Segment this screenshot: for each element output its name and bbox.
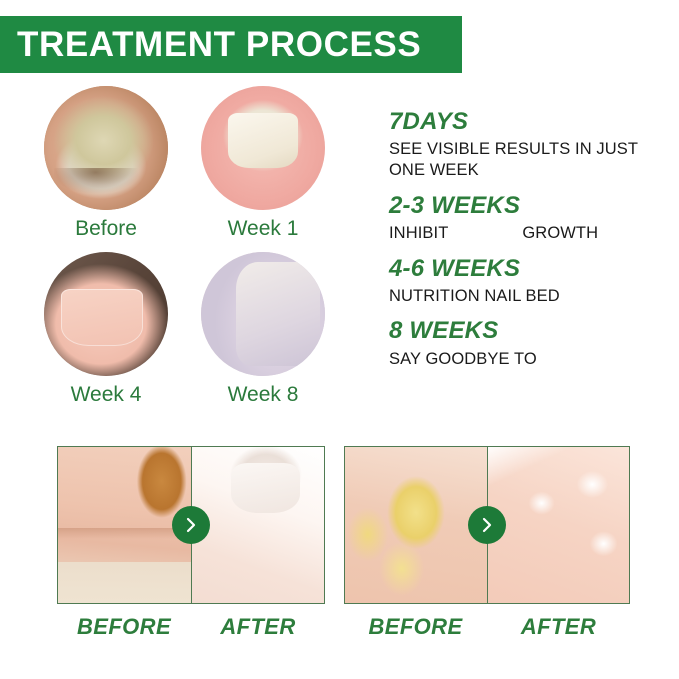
chevron-right-icon [172,506,210,544]
progress-circles-grid: Before Week 1 Week 4 Week 8 [44,86,364,426]
timeline-item-2-3-weeks: 2-3 WEEKS INHIBITGROWTH [389,192,665,244]
timeline-body-line: ONE WEEK [389,161,479,179]
nail-week8-photo [201,252,325,376]
page-title: TREATMENT PROCESS [0,27,421,62]
timeline-item-4-6-weeks: 4-6 WEEKS NUTRITION NAIL BED [389,255,665,307]
toenail-after-art [192,447,325,603]
before-caption: BEFORE [57,614,191,640]
comparison-row: BEFORE AFTER BEFORE AFTER [0,446,679,646]
timeline-body: SAY GOODBYE TO [389,349,665,370]
timeline-body: INHIBITGROWTH [389,223,665,244]
timeline-body: SEE VISIBLE RESULTS IN JUST ONE WEEK [389,139,665,180]
progress-circle-week8: Week 8 [201,252,325,406]
before-image-fingernail [345,447,488,603]
timeline-body: NUTRITION NAIL BED [389,286,665,307]
nail-photo-art [44,252,168,376]
nail-photo-art [44,86,168,210]
nail-photo-art [201,252,325,376]
nail-week4-photo [44,252,168,376]
progress-circle-label: Week 1 [201,217,325,240]
nail-week1-photo [201,86,325,210]
toenail-comparison-panel: BEFORE AFTER [57,446,325,640]
after-image-fingernail [488,447,630,603]
treatment-timeline: 7DAYS SEE VISIBLE RESULTS IN JUST ONE WE… [389,108,665,380]
progress-circle-before: Before [44,86,168,240]
timeline-heading: 8 WEEKS [389,317,665,345]
timeline-heading: 4-6 WEEKS [389,255,665,283]
progress-circle-label: Week 4 [44,383,168,406]
fingernail-before-art [345,447,487,603]
timeline-body-part: INHIBIT [389,224,448,242]
chevron-right-icon [468,506,506,544]
comparison-captions: BEFORE AFTER [57,614,325,640]
before-caption: BEFORE [344,614,487,640]
progress-circle-week1: Week 1 [201,86,325,240]
nail-before-photo [44,86,168,210]
progress-circle-week4: Week 4 [44,252,168,406]
header-banner: TREATMENT PROCESS [0,16,462,73]
timeline-item-7days: 7DAYS SEE VISIBLE RESULTS IN JUST ONE WE… [389,108,665,181]
toenail-before-art [58,447,191,603]
timeline-body-part: GROWTH [522,224,598,242]
after-caption: AFTER [487,614,630,640]
comparison-images [344,446,630,604]
nail-photo-art [201,86,325,210]
timeline-body-line: SEE VISIBLE RESULTS IN JUST [389,140,638,158]
comparison-images [57,446,325,604]
progress-circle-label: Week 8 [201,383,325,406]
timeline-heading: 7DAYS [389,108,665,136]
timeline-heading: 2-3 WEEKS [389,192,665,220]
after-caption: AFTER [191,614,325,640]
timeline-item-8-weeks: 8 WEEKS SAY GOODBYE TO [389,317,665,369]
fingernail-after-art [488,447,630,603]
comparison-captions: BEFORE AFTER [344,614,630,640]
fingernail-comparison-panel: BEFORE AFTER [344,446,630,640]
after-image-toenail [192,447,325,603]
progress-circle-label: Before [44,217,168,240]
